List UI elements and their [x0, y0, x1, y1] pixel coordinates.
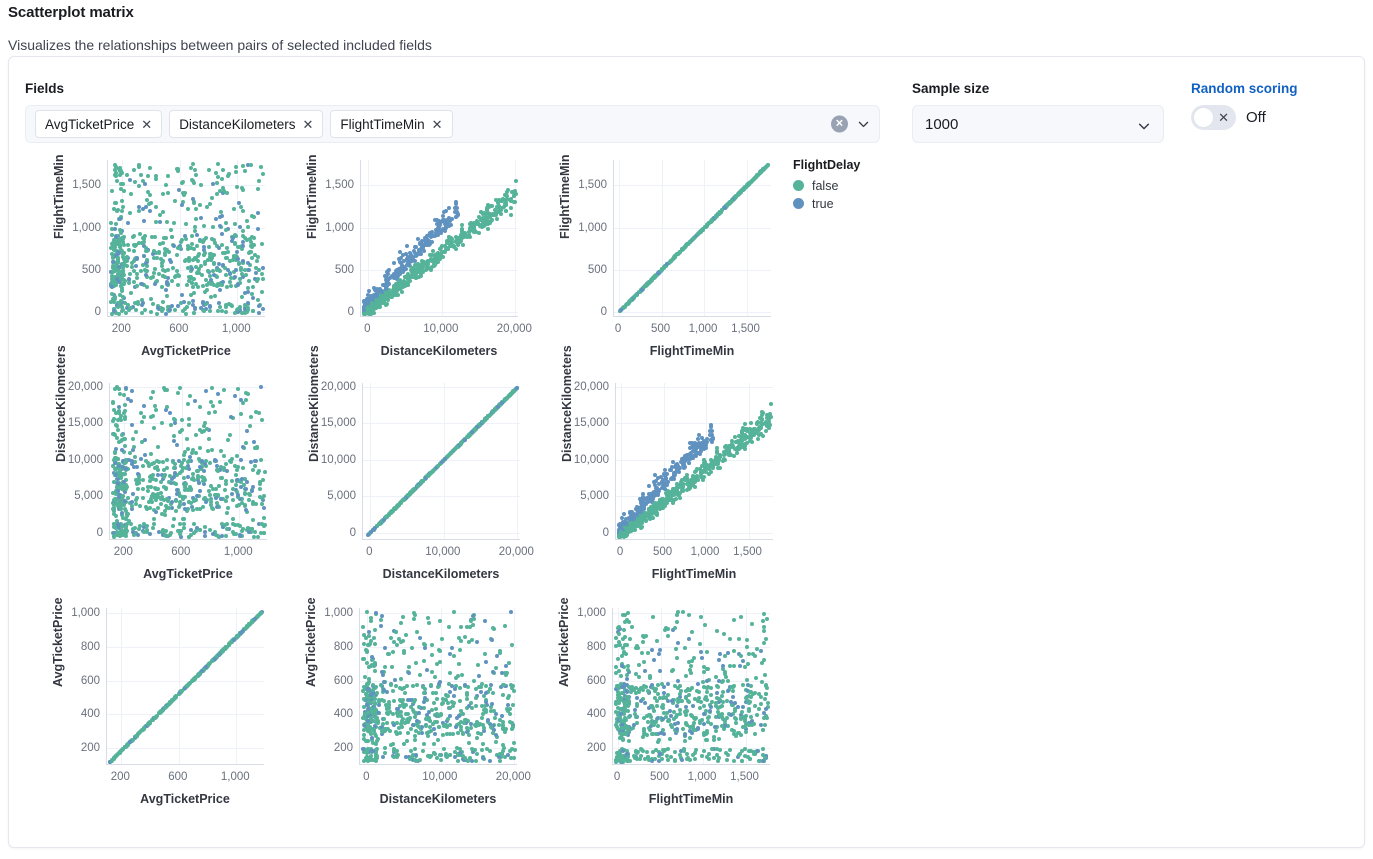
data-point — [197, 252, 201, 256]
data-point — [495, 217, 499, 221]
close-icon[interactable]: ✕ — [302, 118, 313, 131]
data-point — [244, 626, 248, 630]
data-point — [196, 469, 200, 473]
data-point — [169, 260, 173, 264]
data-point — [225, 469, 229, 473]
data-point — [138, 232, 142, 236]
data-point — [259, 611, 263, 615]
scatterplot-cell-distancekilometers-vs-avgticketprice[interactable]: 05,00010,00015,00020,0002006001,000Dista… — [20, 375, 273, 600]
data-point — [140, 420, 144, 424]
field-pill-avgticketprice[interactable]: AvgTicketPrice ✕ — [35, 110, 162, 138]
data-point — [183, 488, 187, 492]
data-point — [179, 689, 183, 693]
y-axis-tick-label: 15,000 — [574, 417, 609, 429]
data-point — [441, 214, 445, 218]
clear-all-icon[interactable]: ✕ — [831, 116, 848, 133]
data-point — [117, 474, 121, 478]
data-point — [497, 723, 501, 727]
data-point — [258, 487, 262, 491]
x-axis-tick-label: 600 — [171, 546, 190, 558]
plot-area[interactable] — [613, 160, 771, 317]
data-point — [139, 173, 143, 177]
data-point — [175, 488, 179, 492]
data-point — [116, 522, 120, 526]
x-axis-title: AvgTicketPrice — [107, 344, 265, 358]
data-point — [182, 476, 186, 480]
data-point — [261, 307, 265, 311]
data-point — [259, 458, 263, 462]
data-point — [398, 285, 402, 289]
data-point — [161, 307, 165, 311]
data-point — [187, 423, 191, 427]
field-pill-distancekilometers[interactable]: DistanceKilometers ✕ — [169, 110, 323, 138]
data-point — [693, 485, 697, 489]
data-point — [640, 288, 644, 292]
data-point — [232, 532, 236, 536]
data-point — [194, 207, 198, 211]
data-point — [199, 264, 203, 268]
data-point — [154, 478, 158, 482]
data-point — [630, 513, 634, 517]
data-point — [468, 235, 472, 239]
data-point — [203, 251, 207, 255]
data-point — [433, 732, 437, 736]
data-point — [176, 283, 180, 287]
scatterplot-cell-avgticketprice-vs-distancekilometers[interactable]: 2004006008001,000010,00020,000AvgTicketP… — [273, 600, 526, 828]
gridline-vertical — [704, 160, 705, 316]
data-point — [644, 519, 648, 523]
data-point — [486, 227, 490, 231]
data-point — [447, 453, 451, 457]
gridline-horizontal — [361, 185, 518, 186]
data-point — [366, 739, 370, 743]
data-point — [142, 219, 146, 223]
data-point — [668, 260, 672, 264]
data-point — [208, 304, 212, 308]
gridline-horizontal — [107, 714, 264, 715]
y-axis-tick-label: 20,000 — [68, 381, 103, 393]
data-point — [196, 285, 200, 289]
y-axis-tick-label: 200 — [81, 742, 100, 754]
data-point — [667, 494, 671, 498]
data-point — [251, 285, 255, 289]
data-point — [493, 716, 497, 720]
y-axis-tick-label: 5,000 — [327, 490, 356, 502]
data-point — [422, 659, 426, 663]
data-point — [459, 625, 463, 629]
data-point — [409, 727, 413, 731]
data-point — [129, 399, 133, 403]
y-axis-tick-label: 0 — [95, 306, 101, 318]
data-point — [183, 450, 187, 454]
data-point — [132, 445, 136, 449]
data-point — [141, 478, 145, 482]
y-axis-tick-label: 500 — [335, 264, 354, 276]
data-point — [234, 473, 238, 477]
data-point — [137, 184, 141, 188]
data-point — [203, 421, 207, 425]
data-point — [646, 513, 650, 517]
data-point — [627, 528, 631, 532]
data-point — [246, 225, 250, 229]
data-point — [240, 477, 244, 481]
data-point — [704, 443, 708, 447]
data-point — [194, 529, 198, 533]
data-point — [491, 410, 495, 414]
data-point — [255, 259, 259, 263]
data-point — [144, 269, 148, 273]
data-point — [427, 243, 431, 247]
data-point — [230, 457, 234, 461]
data-point — [418, 242, 422, 246]
data-point — [705, 437, 709, 441]
data-point — [185, 283, 189, 287]
data-point — [663, 468, 667, 472]
data-point — [482, 211, 486, 215]
data-point — [419, 274, 423, 278]
data-point — [231, 498, 235, 502]
x-axis-tick-label: 1,500 — [731, 323, 760, 335]
scatterplot-cell-distancekilometers-vs-distancekilometers[interactable]: 05,00010,00015,00020,000010,00020,000Dis… — [273, 375, 526, 600]
data-point — [151, 526, 155, 530]
data-point — [433, 675, 437, 679]
data-point — [228, 433, 232, 437]
data-point — [379, 618, 383, 622]
y-axis-tick-label: 500 — [588, 264, 607, 276]
data-point — [193, 306, 197, 310]
plot-area[interactable] — [615, 383, 773, 540]
data-point — [258, 482, 262, 486]
data-point — [246, 286, 250, 290]
data-point — [436, 738, 440, 742]
data-point — [156, 473, 160, 477]
data-point — [180, 293, 184, 297]
chevron-down-icon[interactable] — [857, 118, 870, 131]
data-point — [452, 694, 456, 698]
data-point — [110, 285, 114, 289]
data-point — [362, 733, 366, 737]
data-point — [186, 402, 190, 406]
data-point — [203, 525, 207, 529]
data-point — [252, 236, 256, 240]
data-point — [220, 522, 224, 526]
data-point — [447, 206, 451, 210]
data-point — [164, 183, 168, 187]
data-point — [243, 268, 247, 272]
data-point — [434, 261, 438, 265]
fields-combobox[interactable]: AvgTicketPrice ✕ DistanceKilometers ✕ Fl… — [25, 105, 880, 143]
data-point — [151, 414, 155, 418]
data-point — [238, 534, 242, 538]
data-point — [160, 421, 164, 425]
data-point — [165, 466, 169, 470]
data-point — [143, 453, 147, 457]
data-point — [224, 534, 228, 538]
data-point — [233, 311, 237, 315]
data-point — [123, 444, 127, 448]
gridline-vertical — [121, 608, 122, 764]
data-point — [710, 440, 714, 444]
data-point — [111, 270, 115, 274]
data-point — [113, 173, 117, 177]
data-point — [226, 174, 230, 178]
data-point — [416, 484, 420, 488]
random-scoring-toggle[interactable]: ✕ — [1191, 105, 1236, 130]
data-point — [252, 440, 256, 444]
data-point — [115, 436, 119, 440]
data-point — [457, 662, 461, 666]
data-point — [138, 524, 142, 528]
data-point — [654, 486, 658, 490]
close-icon[interactable]: ✕ — [432, 118, 443, 131]
data-point — [621, 520, 625, 524]
data-point — [402, 649, 406, 653]
x-axis-tick-label: 10,000 — [423, 323, 458, 335]
data-point — [453, 206, 457, 210]
data-point — [655, 511, 659, 515]
data-point — [152, 249, 156, 253]
data-point — [483, 223, 487, 227]
random-scoring-state: Off — [1246, 109, 1266, 126]
data-point — [509, 197, 513, 201]
data-point — [256, 535, 260, 539]
gridline-horizontal — [110, 387, 267, 388]
scatterplot-cell-distancekilometers-vs-flighttimemin[interactable]: 05,00010,00015,00020,00005001,0001,500Di… — [526, 375, 779, 600]
data-point — [406, 731, 410, 735]
data-point — [220, 534, 224, 538]
data-point — [236, 283, 240, 287]
y-axis-tick-label: 10,000 — [321, 454, 356, 466]
data-point — [220, 232, 224, 236]
data-point — [240, 295, 244, 299]
data-point — [236, 493, 240, 497]
data-point — [176, 391, 180, 395]
data-point — [513, 200, 517, 204]
data-point — [212, 262, 216, 266]
plot-area[interactable] — [109, 383, 267, 540]
chevron-down-icon[interactable] — [1137, 119, 1151, 133]
x-axis-title: AvgTicketPrice — [109, 567, 267, 581]
data-point — [426, 616, 430, 620]
data-point — [432, 727, 436, 731]
field-pill-flighttimemin[interactable]: FlightTimeMin ✕ — [330, 110, 452, 138]
data-point — [241, 188, 245, 192]
data-point — [135, 284, 139, 288]
data-point — [474, 704, 478, 708]
data-point — [683, 459, 687, 463]
data-point — [407, 263, 411, 267]
data-point — [205, 288, 209, 292]
x-axis-tick-label: 200 — [114, 546, 133, 558]
data-point — [110, 759, 114, 763]
x-axis-title: FlightTimeMin — [613, 344, 771, 358]
data-point — [217, 246, 221, 250]
y-axis-tick-label: 0 — [97, 527, 103, 539]
data-point — [163, 513, 167, 517]
data-point — [659, 501, 663, 505]
data-point — [118, 392, 122, 396]
data-point — [718, 455, 722, 459]
data-point — [165, 497, 169, 501]
data-point — [121, 747, 125, 751]
data-point — [173, 199, 177, 203]
x-axis-tick-label: 0 — [366, 546, 372, 558]
data-point — [130, 423, 134, 427]
plot-area[interactable] — [360, 160, 518, 317]
data-point — [153, 282, 157, 286]
data-point — [256, 187, 260, 191]
data-point — [122, 189, 126, 193]
data-point — [647, 484, 651, 488]
data-point — [207, 411, 211, 415]
data-point — [363, 675, 367, 679]
data-point — [198, 446, 202, 450]
data-point — [191, 472, 195, 476]
data-point — [243, 169, 247, 173]
scatterplot-cell-avgticketprice-vs-avgticketprice[interactable]: 2004006008001,0002006001,000AvgTicketPri… — [20, 600, 273, 828]
data-point — [173, 275, 177, 279]
data-point — [216, 162, 220, 166]
data-point — [172, 434, 176, 438]
data-point — [387, 291, 391, 295]
data-point — [163, 473, 167, 477]
random-scoring-control[interactable]: ✕ Off — [1191, 105, 1266, 130]
data-point — [207, 245, 211, 249]
data-point — [221, 168, 225, 172]
data-point — [678, 496, 682, 500]
data-point — [439, 758, 443, 762]
gridline-horizontal — [616, 533, 773, 534]
data-point — [151, 473, 155, 477]
data-point — [483, 619, 487, 623]
data-point — [216, 309, 220, 313]
data-point — [725, 450, 729, 454]
data-point — [743, 447, 747, 451]
data-point — [192, 291, 196, 295]
data-point — [112, 508, 116, 512]
data-point — [246, 306, 250, 310]
data-point — [254, 271, 258, 275]
data-point — [739, 445, 743, 449]
random-scoring-label[interactable]: Random scoring — [1191, 81, 1298, 96]
gridline-vertical — [442, 160, 443, 316]
data-point — [162, 485, 166, 489]
data-point — [757, 426, 761, 430]
data-point — [228, 272, 232, 276]
close-icon[interactable]: ✕ — [141, 118, 152, 131]
data-point — [215, 468, 219, 472]
data-point — [126, 496, 130, 500]
data-point — [241, 401, 245, 405]
data-point — [172, 221, 176, 225]
data-point — [442, 218, 446, 222]
field-pill-label: DistanceKilometers — [179, 117, 295, 132]
data-point — [252, 215, 256, 219]
data-point — [189, 488, 193, 492]
data-point — [190, 242, 194, 246]
data-point — [734, 440, 738, 444]
data-point — [193, 498, 197, 502]
data-point — [479, 732, 483, 736]
data-point — [200, 669, 204, 673]
plot-area[interactable] — [107, 160, 265, 317]
data-point — [186, 207, 190, 211]
data-point — [198, 203, 202, 207]
data-point — [187, 259, 191, 263]
data-point — [241, 259, 245, 263]
data-point — [481, 216, 485, 220]
data-point — [112, 525, 116, 529]
y-axis-tick-label: 1,500 — [325, 179, 354, 191]
data-point — [137, 241, 141, 245]
data-point — [219, 449, 223, 453]
gridline-vertical — [441, 608, 442, 764]
data-point — [244, 508, 248, 512]
data-point — [375, 739, 379, 743]
data-point — [374, 759, 378, 763]
scatterplot-cell-flighttimemin-vs-distancekilometers[interactable]: 05001,0001,500010,00020,000FlightTimeMin… — [273, 152, 526, 375]
data-point — [204, 389, 208, 393]
data-point — [152, 517, 156, 521]
scatterplot-cell-flighttimemin-vs-avgticketprice[interactable]: 05001,0001,5002006001,000FlightTimeMinAv… — [20, 152, 273, 375]
data-point — [436, 226, 440, 230]
data-point — [132, 280, 136, 284]
data-point — [379, 298, 383, 302]
data-point — [447, 682, 451, 686]
data-point — [372, 636, 376, 640]
data-point — [120, 433, 124, 437]
data-point — [157, 272, 161, 276]
data-point — [149, 310, 153, 314]
data-point — [207, 168, 211, 172]
y-axis-tick-label: 400 — [81, 708, 100, 720]
data-point — [398, 731, 402, 735]
plot-area[interactable] — [359, 608, 517, 765]
data-point — [194, 451, 198, 455]
data-point — [362, 308, 366, 312]
data-point — [238, 524, 242, 528]
data-point — [231, 236, 235, 240]
x-axis-tick-label: 1,000 — [221, 771, 250, 783]
data-point — [404, 633, 408, 637]
data-point — [134, 502, 138, 506]
data-point — [509, 213, 513, 217]
plot-area[interactable] — [106, 608, 264, 765]
data-point — [135, 276, 139, 280]
data-point — [256, 211, 260, 215]
data-point — [151, 302, 155, 306]
data-point — [248, 424, 252, 428]
data-point — [127, 248, 131, 252]
plot-area[interactable] — [362, 383, 520, 540]
data-point — [213, 410, 217, 414]
data-point — [454, 202, 458, 206]
data-point — [405, 283, 409, 287]
combobox-actions: ✕ — [831, 116, 870, 133]
data-point — [392, 755, 396, 759]
sample-size-select[interactable]: 1000 — [912, 105, 1164, 143]
data-point — [149, 452, 153, 456]
data-point — [748, 439, 752, 443]
gridline-horizontal — [614, 228, 771, 229]
data-point — [430, 233, 434, 237]
data-point — [142, 530, 146, 534]
scatterplot-cell-flighttimemin-vs-flighttimemin[interactable]: 05001,0001,50005001,0001,500FlightTimeMi… — [526, 152, 779, 375]
data-point — [187, 417, 191, 421]
y-axis-tick-label: 10,000 — [68, 454, 103, 466]
y-axis-tick-label: 5,000 — [580, 490, 609, 502]
data-point — [226, 438, 230, 442]
